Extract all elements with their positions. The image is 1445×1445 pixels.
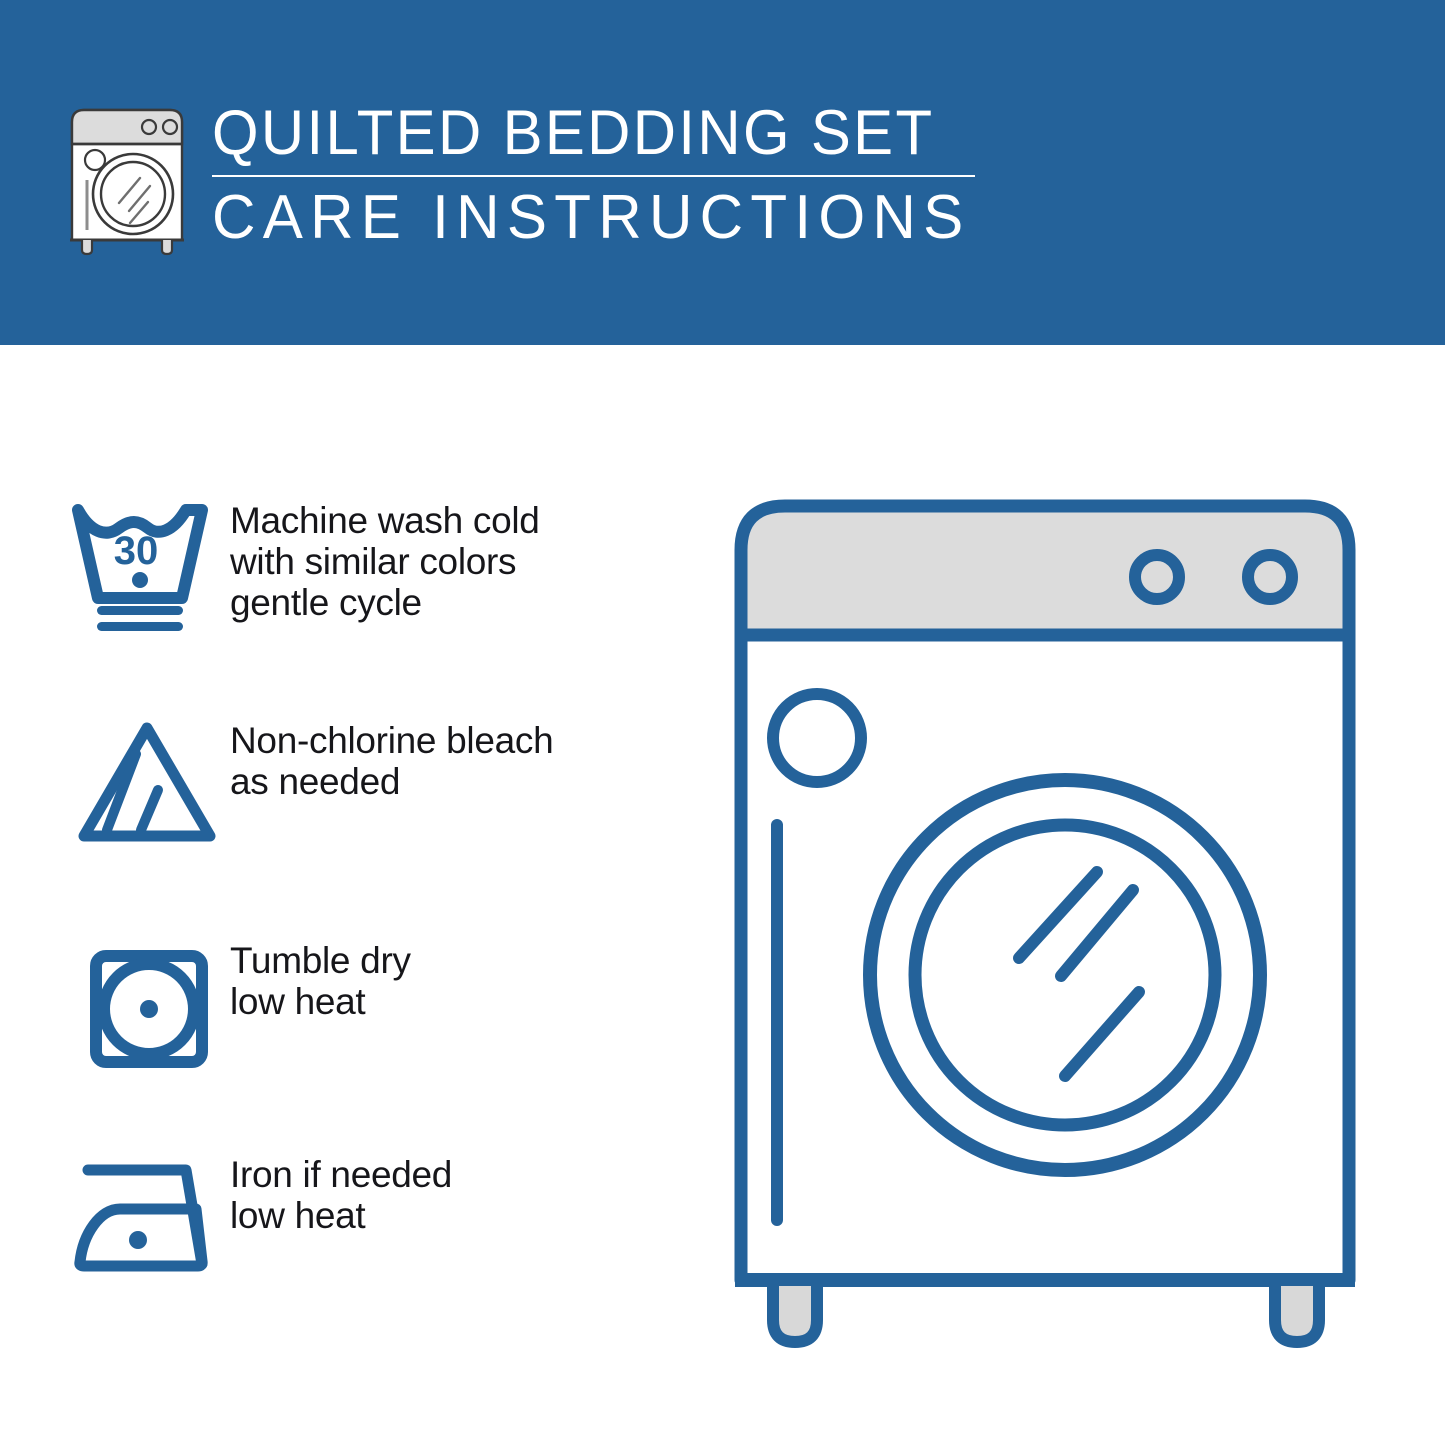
care-item-tumble-dry: Tumble dry low heat	[70, 938, 690, 1078]
detergent-port	[773, 694, 861, 782]
care-item-label: Non-chlorine bleach as needed	[230, 718, 553, 802]
care-icon-container	[70, 1152, 230, 1282]
care-item-label: Iron if needed low heat	[230, 1152, 452, 1236]
care-label-line: low heat	[230, 981, 411, 1022]
care-label-line: gentle cycle	[230, 582, 540, 623]
svg-text:30: 30	[114, 529, 159, 573]
care-label-line: Non-chlorine bleach	[230, 720, 553, 761]
leg-right	[1275, 1280, 1319, 1342]
care-label-line: Machine wash cold	[230, 500, 540, 541]
care-label-line: Tumble dry	[230, 940, 411, 981]
non-chlorine-bleach-triangle-icon	[70, 718, 225, 848]
iron-low-heat-icon	[70, 1152, 230, 1282]
washing-machine-icon	[66, 104, 188, 256]
care-label-line: with similar colors	[230, 541, 540, 582]
header-text-block: QUILTED BEDDING SET CARE INSTRUCTIONS	[212, 96, 1002, 253]
care-label-line: low heat	[230, 1195, 452, 1236]
leg-left	[773, 1280, 817, 1342]
control-panel	[741, 506, 1349, 635]
tumble-dry-low-heat-icon	[70, 938, 225, 1078]
page-title: QUILTED BEDDING SET	[212, 96, 963, 170]
care-item-machine-wash: 30 Machine wash cold with similar colors…	[70, 498, 690, 638]
title-divider	[212, 175, 975, 177]
page-subtitle: CARE INSTRUCTIONS	[212, 183, 978, 253]
care-item-label: Machine wash cold with similar colors ge…	[230, 498, 540, 623]
drum-streak-lines	[1019, 872, 1139, 1076]
wash-basin-30-gentle-icon: 30	[70, 498, 225, 638]
care-item-label: Tumble dry low heat	[230, 938, 411, 1022]
care-icon-container	[70, 938, 230, 1078]
care-item-iron: Iron if needed low heat	[70, 1152, 690, 1282]
care-label-line: Iron if needed	[230, 1154, 452, 1195]
care-icon-container	[70, 718, 230, 848]
care-icon-container: 30	[70, 498, 230, 638]
front-load-washing-machine-illustration	[715, 480, 1405, 1370]
header-banner: QUILTED BEDDING SET CARE INSTRUCTIONS	[0, 0, 1445, 345]
care-label-line: as needed	[230, 761, 553, 802]
care-item-non-chlorine-bleach: Non-chlorine bleach as needed	[70, 718, 690, 848]
